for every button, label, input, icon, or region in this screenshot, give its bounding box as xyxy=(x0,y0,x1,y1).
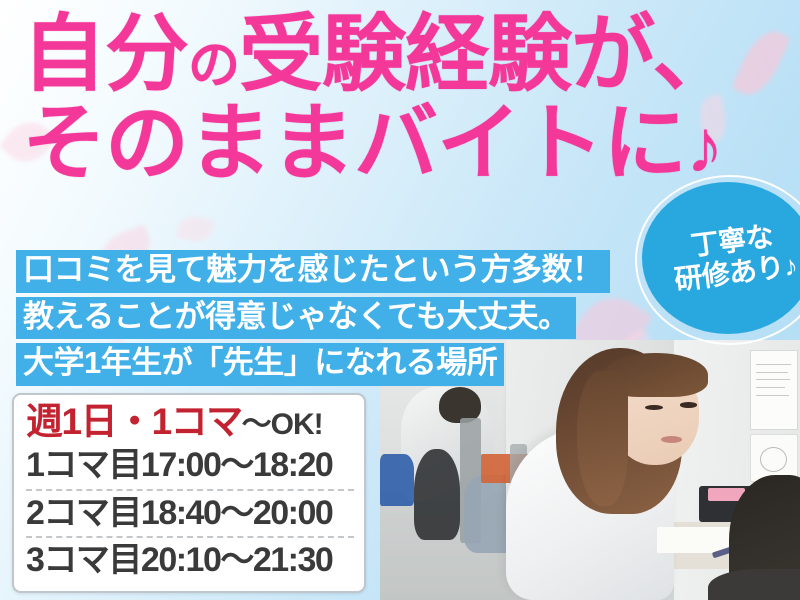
headline-text-no: の xyxy=(188,37,239,95)
schedule-row-1: 1コマ目17:00〜18:20 xyxy=(26,443,354,490)
schedule-box: 週1日・1コマ〜OK! 1コマ目17:00〜18:20 2コマ目18:40〜20… xyxy=(12,393,366,593)
badge-text: 丁寧な 研修あり♪ xyxy=(633,172,800,344)
banner-group: 口コミを見て魅力を感じたという方多数！ 教えることが得意じゃなくても大丈夫。 大… xyxy=(16,250,610,390)
photo-chair xyxy=(414,449,460,540)
schedule-row-2: 2コマ目18:40〜20:00 xyxy=(26,491,354,538)
photo-background-bag xyxy=(380,454,414,506)
headline-line-2: そのままバイトに♪ xyxy=(22,103,782,184)
headline-line-1: 自分の受験経験が、 xyxy=(22,14,782,95)
photo-notice-circle xyxy=(760,447,787,472)
headline-text-b: 受験経験 xyxy=(239,7,571,101)
photo-tutor-eye xyxy=(680,402,697,407)
photo-tutor-hair-side xyxy=(577,371,627,506)
banner-line-3: 大学1年生が「先生」になれる場所 xyxy=(16,343,504,386)
schedule-row-3: 3コマ目20:10〜21:30 xyxy=(26,538,354,583)
headline-text-c: が、 xyxy=(571,7,735,101)
advertisement-poster: 自分の受験経験が、 そのままバイトに♪ 丁寧な 研修あり♪ 口コミを見て魅力を感… xyxy=(0,0,800,600)
banner-row: 口コミを見て魅力を感じたという方多数！ xyxy=(16,250,610,297)
training-badge: 丁寧な 研修あり♪ xyxy=(642,182,800,334)
banner-line-2: 教えることが得意じゃなくても大丈夫。 xyxy=(16,297,576,340)
banner-line-1: 口コミを見て魅力を感じたという方多数！ xyxy=(16,250,610,293)
schedule-heading: 週1日・1コマ〜OK! xyxy=(26,401,354,442)
petal-decoration xyxy=(175,212,215,246)
headline-text-a: 自分 xyxy=(22,7,188,101)
headline: 自分の受験経験が、 そのままバイトに♪ xyxy=(22,14,782,183)
schedule-heading-ok: 〜OK! xyxy=(242,408,323,441)
schedule-heading-red: 週1日・1コマ xyxy=(26,401,242,442)
banner-row: 教えることが得意じゃなくても大丈夫。 xyxy=(16,297,610,344)
photo-wall-notice xyxy=(750,350,798,430)
banner-row: 大学1年生が「先生」になれる場所 xyxy=(16,343,610,390)
headline-text-d: そのままバイトに xyxy=(22,96,686,190)
